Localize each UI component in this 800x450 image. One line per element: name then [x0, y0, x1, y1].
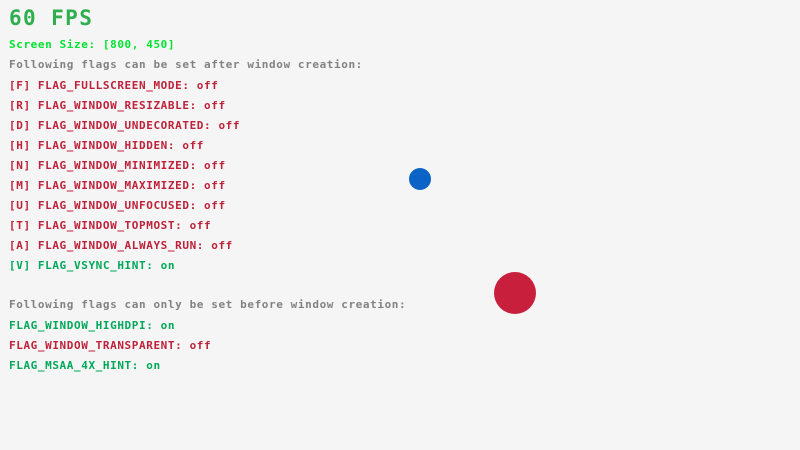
flag-row-flag-fullscreen-mode[interactable]: [F] FLAG_FULLSCREEN_MODE: off: [9, 79, 218, 92]
flag-row-flag-window-transparent[interactable]: FLAG_WINDOW_TRANSPARENT: off: [9, 339, 211, 352]
flag-row-flag-vsync-hint[interactable]: [V] FLAG_VSYNC_HINT: on: [9, 259, 175, 272]
flag-row-flag-window-maximized[interactable]: [M] FLAG_WINDOW_MAXIMIZED: off: [9, 179, 226, 192]
flag-row-flag-window-hidden[interactable]: [H] FLAG_WINDOW_HIDDEN: off: [9, 139, 204, 152]
screen-size-label: Screen Size: [800, 450]: [9, 38, 175, 51]
flag-row-flag-window-minimized[interactable]: [N] FLAG_WINDOW_MINIMIZED: off: [9, 159, 226, 172]
flag-row-flag-window-resizable[interactable]: [R] FLAG_WINDOW_RESIZABLE: off: [9, 99, 226, 112]
flag-row-flag-window-undecorated[interactable]: [D] FLAG_WINDOW_UNDECORATED: off: [9, 119, 240, 132]
raylib-window-canvas: 60 FPS Screen Size: [800, 450] Following…: [0, 0, 800, 450]
large-red-ball: [494, 272, 536, 314]
fps-counter: 60 FPS: [9, 6, 93, 30]
flag-row-flag-msaa-4x-hint[interactable]: FLAG_MSAA_4X_HINT: on: [9, 359, 161, 372]
flag-row-flag-window-always-run[interactable]: [A] FLAG_WINDOW_ALWAYS_RUN: off: [9, 239, 233, 252]
flag-row-flag-window-highdpi[interactable]: FLAG_WINDOW_HIGHDPI: on: [9, 319, 175, 332]
flag-row-flag-window-unfocused[interactable]: [U] FLAG_WINDOW_UNFOCUSED: off: [9, 199, 226, 212]
flag-row-flag-window-topmost[interactable]: [T] FLAG_WINDOW_TOPMOST: off: [9, 219, 211, 232]
before-creation-section-title: Following flags can only be set before w…: [9, 298, 406, 311]
after-creation-section-title: Following flags can be set after window …: [9, 58, 363, 71]
small-blue-ball: [409, 168, 431, 190]
